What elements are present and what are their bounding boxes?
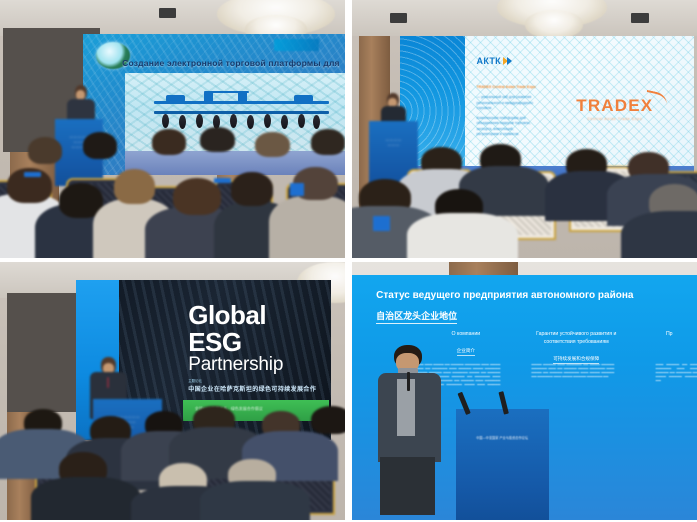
slide-paragraph-2: ▬▬▬▬ ▬▬▬▬▬ ▬▬▬ ▬▬▬▬▬▬ ▬▬ ▬▬▬▬ ▬▬▬▬▬ ▬▬▬▬… xyxy=(531,363,614,379)
conference-room-br: Статус ведущего предприятия автономного … xyxy=(352,262,697,520)
photo-bottom-right: Статус ведущего предприятия автономного … xyxy=(352,262,697,520)
slide-title-cn: 自治区龙头企业地位 xyxy=(376,309,457,324)
slide-subtitle-small: 主题论坛 xyxy=(188,378,202,383)
conference-room-bl: Global ESG Partnership 主题论坛 中国企业在哈萨克斯坦的绿… xyxy=(0,262,345,520)
chandelier-icon xyxy=(525,10,584,38)
lanyard xyxy=(24,172,41,177)
slide-title-ru: Статус ведущего предприятия автономного … xyxy=(376,290,690,301)
conference-room-tl: Создание электронной торговой платформы … xyxy=(0,0,345,258)
projector-icon xyxy=(390,13,407,23)
projector-icon xyxy=(631,13,648,23)
slide-column-heading-cn: 企业简介 xyxy=(457,348,475,356)
slide-headline-line2: ESG xyxy=(188,329,283,356)
projector-icon xyxy=(159,8,176,18)
photo-collage: Создание электронной торговой платформы … xyxy=(0,0,697,522)
event-badge xyxy=(274,39,319,50)
slide-body-line: — уникальный хаб для развития xyxy=(477,95,532,99)
photo-top-left: Создание электронной торговой платформы … xyxy=(0,0,345,258)
slide-column-heading-ru: Гарантии устойчивого развития и соответс… xyxy=(531,331,621,347)
slide-body-line: Комплексная платформа для xyxy=(477,116,526,120)
chevron-right-icon xyxy=(507,57,512,65)
aktk-logo: АКТК xyxy=(477,56,512,66)
slide-paragraph-3: ▬▬▬ ▬▬▬▬▬ ▬▬ ▬▬▬▬ ▬▬▬▬▬▬ ▬▬▬ ▬▬▬▬ ▬▬▬▬▬ … xyxy=(656,363,697,382)
slide-column-3: Пр xyxy=(666,331,697,339)
projection-screen-frame xyxy=(7,293,83,412)
slide-brand-lead: TRADEX Central Asian Trade Expo xyxy=(477,85,536,89)
conference-room-tr: АКТК TRADEX Central Asian Trade Expo — у… xyxy=(352,0,697,258)
lanyard xyxy=(290,183,304,196)
lanyard xyxy=(214,178,231,183)
lanyard xyxy=(373,216,390,231)
slide-title: Создание электронной торговой платформы … xyxy=(122,58,342,68)
slide-body-line: объединения лидеров торговли, xyxy=(477,121,531,125)
slide-body-line: торговли. xyxy=(477,106,493,110)
slide-body-line: экспорта, инвестиций, xyxy=(477,127,514,131)
slide-column-heading-ru: Пр xyxy=(666,331,697,339)
photo-top-right: АКТК TRADEX Central Asian Trade Expo — у… xyxy=(352,0,697,258)
speaker-br xyxy=(376,345,445,515)
audience-tr xyxy=(352,134,697,258)
podium-sign-text: 中国—中亚国家 产业与投资合作论坛 xyxy=(467,436,538,441)
aktk-logo-text: АКТК xyxy=(477,56,501,66)
microphone-icon[interactable] xyxy=(407,372,410,391)
tradex-logo-text: TRADEX xyxy=(576,96,653,115)
slide-column-2: Гарантии устойчивого развития и соответс… xyxy=(531,331,621,365)
audience-bl xyxy=(0,406,345,520)
podium-br: 中国—中亚国家 产业与投资合作论坛 xyxy=(456,409,549,520)
photo-bottom-left: Global ESG Partnership 主题论坛 中国企业在哈萨克斯坦的绿… xyxy=(0,262,345,520)
slide-headline-line1: Global xyxy=(188,302,283,329)
tradex-logo: TRADEX Central Asian Trade Expo xyxy=(576,96,653,121)
slide-column-heading-ru: О компании xyxy=(431,331,500,339)
slide-headline-line3: Partnership xyxy=(188,355,283,374)
tradex-tagline: Central Asian Trade Expo xyxy=(576,117,653,121)
slide-headline: Global ESG Partnership xyxy=(188,302,283,374)
slide-subtitle-cn: 中国企业在哈萨克斯坦的绿色可持续发展合作 xyxy=(188,384,316,393)
audience-tl xyxy=(0,124,345,258)
slide-body-line: регионального и международного xyxy=(477,101,533,105)
